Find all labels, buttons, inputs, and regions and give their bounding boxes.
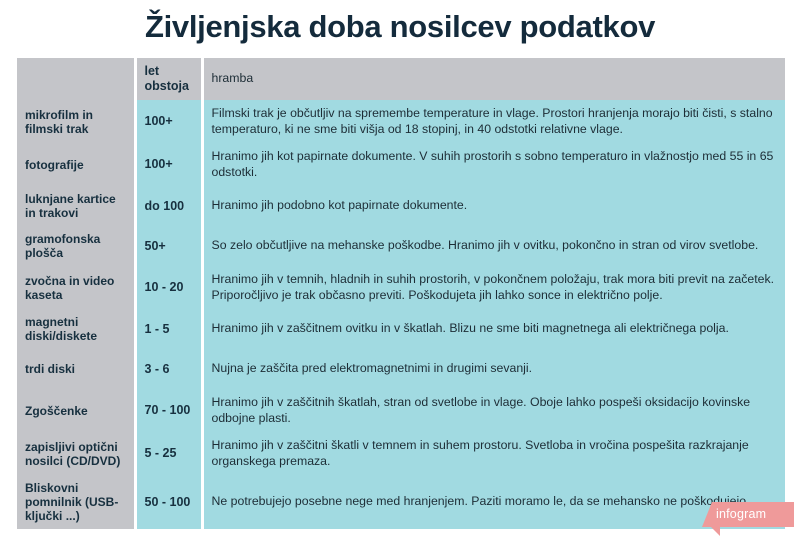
table-row: zvočna in video kaseta10 - 20Hranimo jih… [17, 266, 785, 309]
cell-medium: Zgoščenke [17, 389, 135, 432]
cell-medium: gramofonska plošča [17, 226, 135, 266]
cell-storage: Hranimo jih v temnih, hladnih in suhih p… [202, 266, 785, 309]
table-row: magnetni diski/diskete1 - 5Hranimo jih v… [17, 309, 785, 349]
column-header-storage: hramba [202, 58, 785, 100]
cell-medium: zvočna in video kaseta [17, 266, 135, 309]
cell-storage: Hranimo jih kot papirnate dokumente. V s… [202, 143, 785, 186]
infographic-canvas: Življenjska doba nosilcev podatkov let o… [0, 0, 800, 550]
cell-storage: Hranimo jih podobno kot papirnate dokume… [202, 186, 785, 226]
cell-storage: Hranimo jih v zaščitnem ovitku in v škat… [202, 309, 785, 349]
table-row: Bliskovni pomnilnik (USB-ključki ...)50 … [17, 475, 785, 529]
cell-storage: Filmski trak je občutljiv na spremembe t… [202, 100, 785, 143]
column-header-years: let obstoja [135, 58, 202, 100]
table-row: Zgoščenke70 - 100Hranimo jih v zaščitnih… [17, 389, 785, 432]
cell-years: 100+ [135, 143, 202, 186]
table-row: luknjane kartice in trakovido 100Hranimo… [17, 186, 785, 226]
cell-medium: trdi diski [17, 349, 135, 389]
table-row: mikrofilm in filmski trak100+Filmski tra… [17, 100, 785, 143]
lifespan-table: let obstoja hramba mikrofilm in filmski … [17, 58, 785, 529]
table-header: let obstoja hramba [17, 58, 785, 100]
column-header-medium [17, 58, 135, 100]
cell-medium: luknjane kartice in trakovi [17, 186, 135, 226]
infogram-watermark-label: infogram [716, 507, 766, 521]
cell-years: 100+ [135, 100, 202, 143]
table-header-row: let obstoja hramba [17, 58, 785, 100]
table-row: zapisljivi optični nosilci (CD/DVD)5 - 2… [17, 432, 785, 475]
cell-years: 3 - 6 [135, 349, 202, 389]
cell-medium: fotografije [17, 143, 135, 186]
cell-medium: mikrofilm in filmski trak [17, 100, 135, 143]
page-title: Življenjska doba nosilcev podatkov [0, 8, 800, 46]
cell-medium: zapisljivi optični nosilci (CD/DVD) [17, 432, 135, 475]
table-row: fotografije100+Hranimo jih kot papirnate… [17, 143, 785, 186]
table-row: gramofonska plošča50+So zelo občutljive … [17, 226, 785, 266]
cell-years: 50+ [135, 226, 202, 266]
cell-medium: magnetni diski/diskete [17, 309, 135, 349]
table-row: trdi diski3 - 6Nujna je zaščita pred ele… [17, 349, 785, 389]
cell-storage: Hranimo jih v zaščitni škatli v temnem i… [202, 432, 785, 475]
data-table-container: let obstoja hramba mikrofilm in filmski … [17, 58, 785, 529]
cell-storage: Hranimo jih v zaščitnih škatlah, stran o… [202, 389, 785, 432]
cell-medium: Bliskovni pomnilnik (USB-ključki ...) [17, 475, 135, 529]
cell-years: 10 - 20 [135, 266, 202, 309]
cell-years: 50 - 100 [135, 475, 202, 529]
cell-years: 5 - 25 [135, 432, 202, 475]
table-body: mikrofilm in filmski trak100+Filmski tra… [17, 100, 785, 529]
cell-years: 70 - 100 [135, 389, 202, 432]
cell-storage: So zelo občutljive na mehanske poškodbe.… [202, 226, 785, 266]
cell-years: do 100 [135, 186, 202, 226]
cell-years: 1 - 5 [135, 309, 202, 349]
cell-storage: Nujna je zaščita pred elektromagnetnimi … [202, 349, 785, 389]
